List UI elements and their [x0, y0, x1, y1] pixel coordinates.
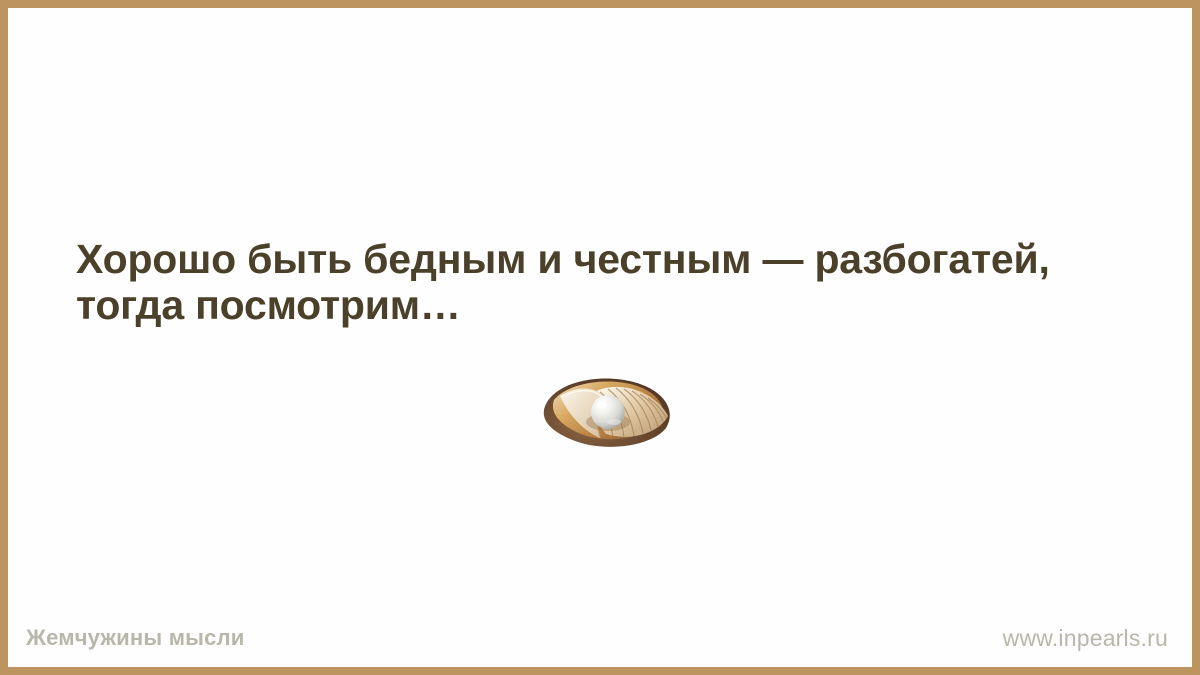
quote-card: Хорошо быть бедным и честным — разбогате…	[0, 0, 1200, 675]
site-tagline: Жемчужины мысли	[26, 625, 245, 651]
oyster-shell-with-pearl-image	[536, 370, 680, 452]
quote-text: Хорошо быть бедным и честным — разбогате…	[76, 236, 1146, 328]
site-url[interactable]: www.inpearls.ru	[1003, 625, 1168, 652]
